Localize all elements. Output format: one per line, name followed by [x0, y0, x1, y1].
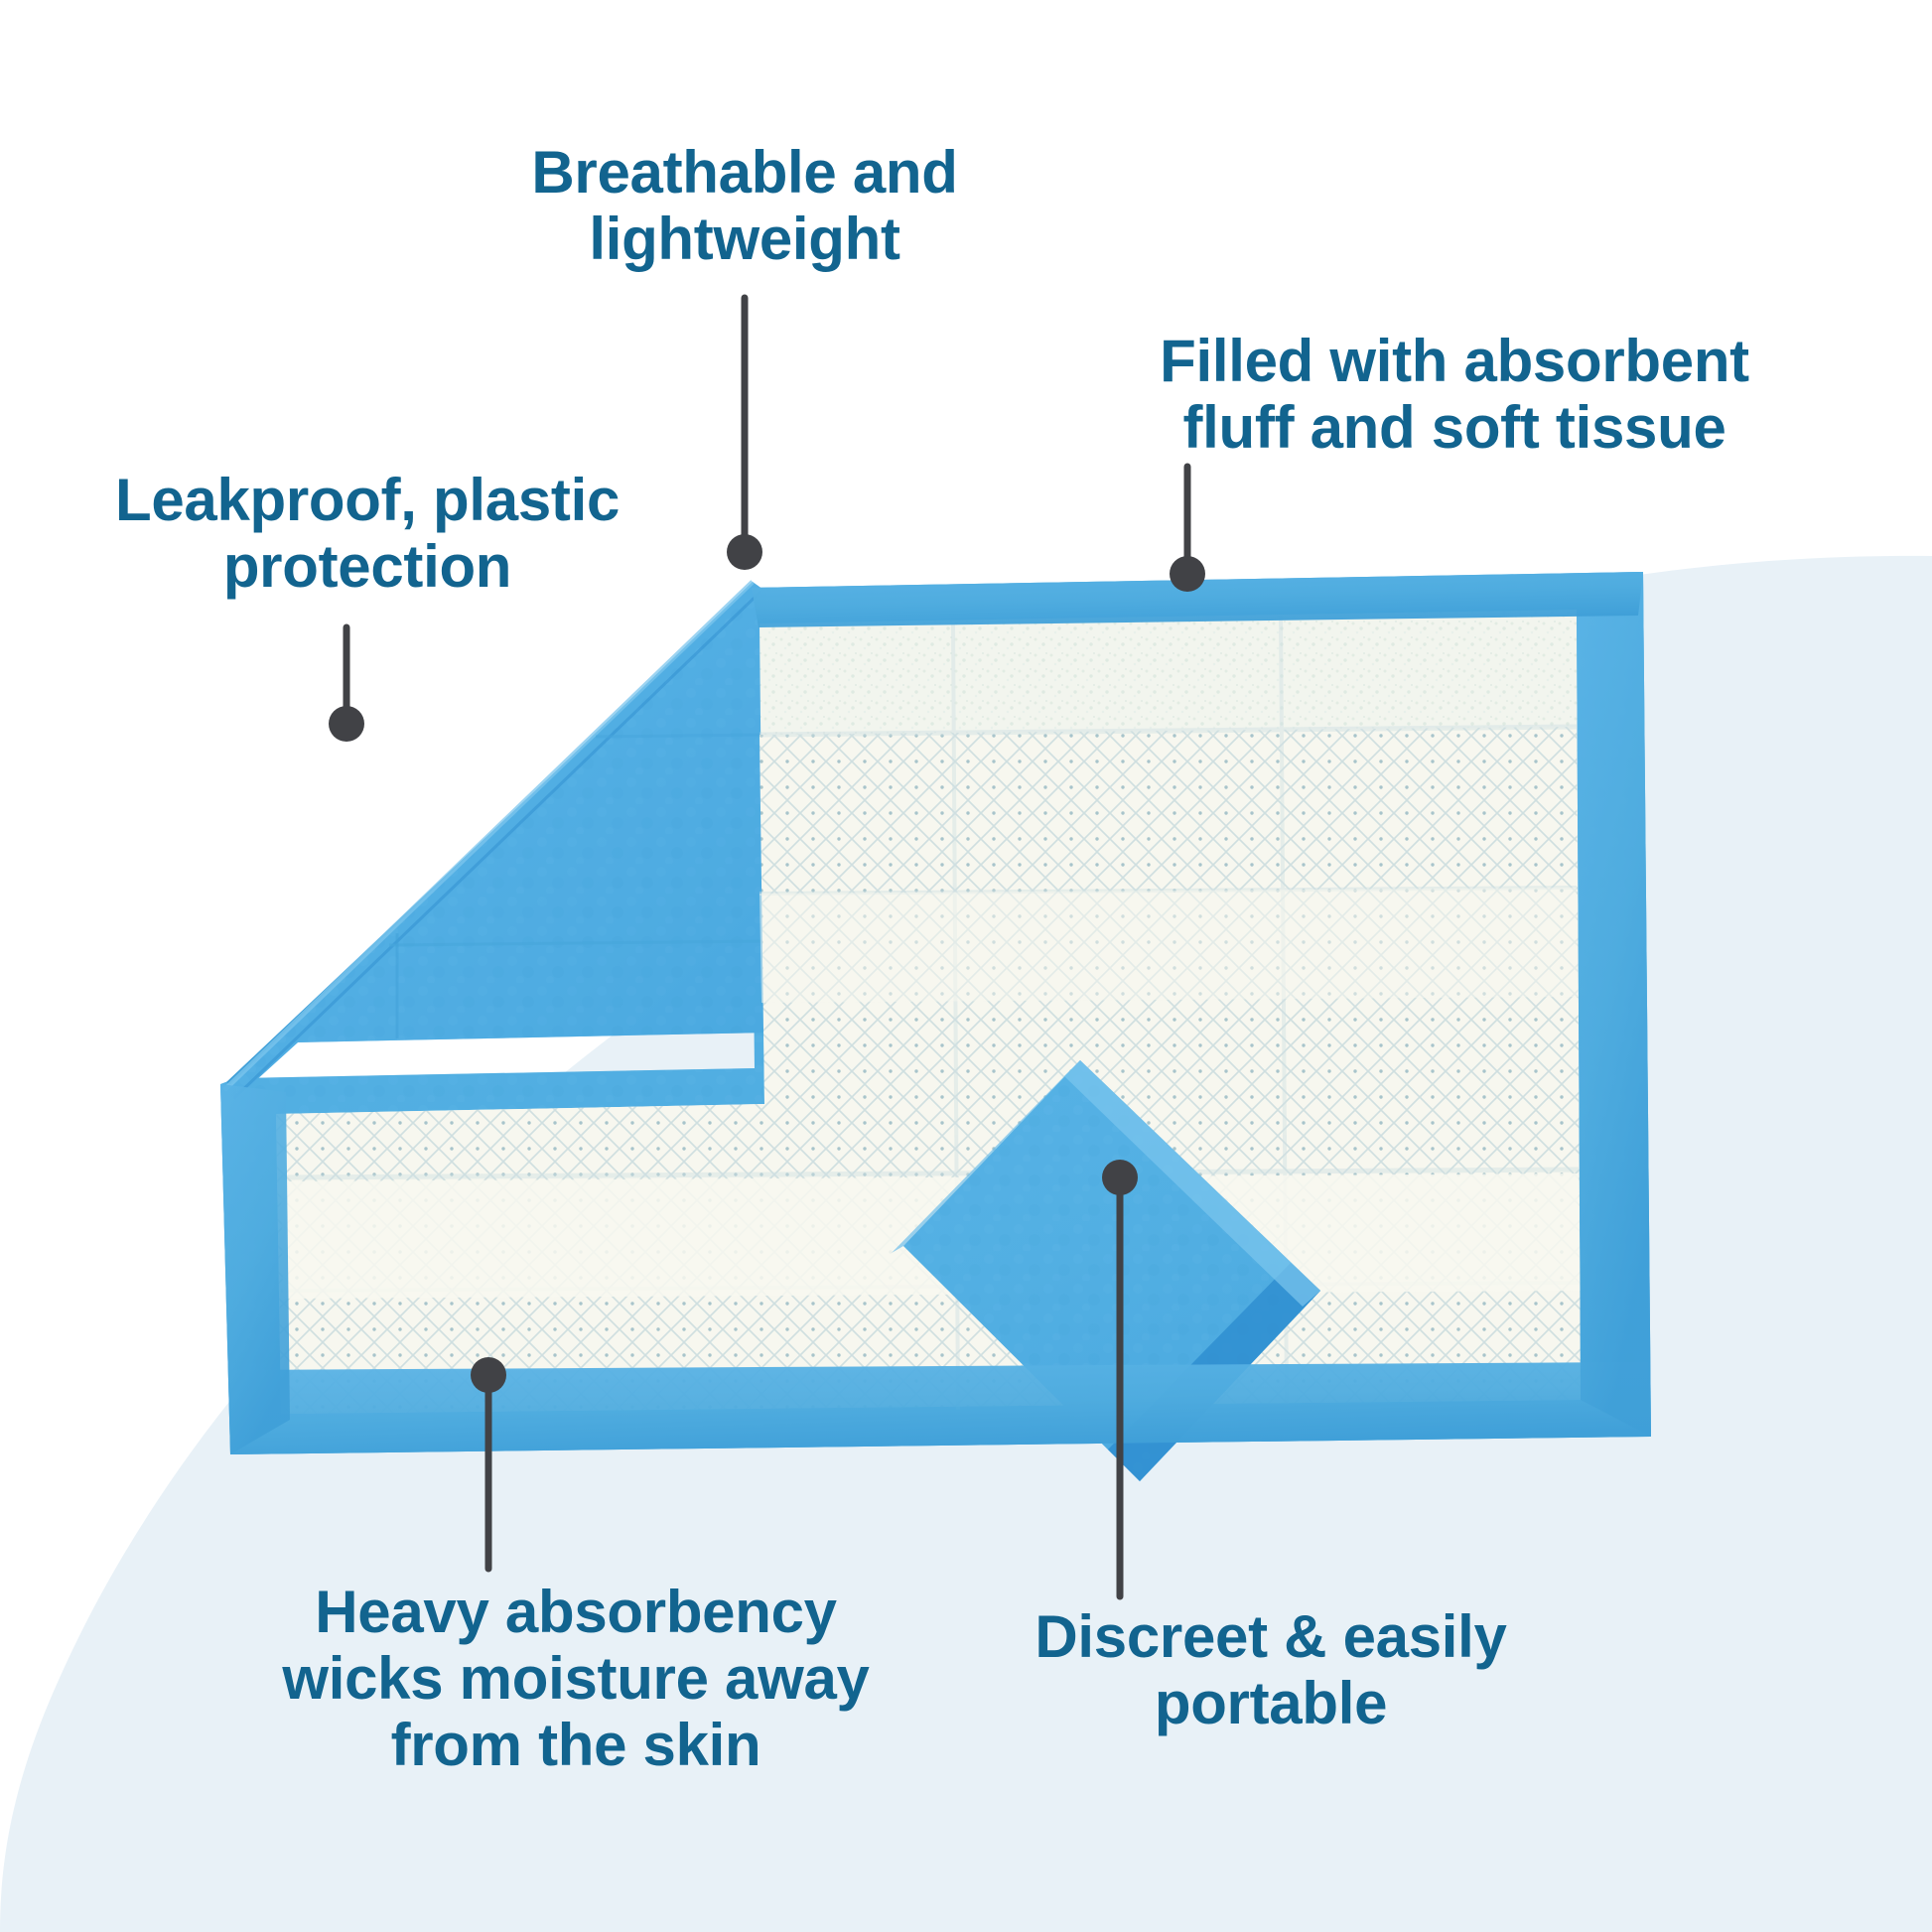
callout-label-leakproof: Leakproof, plastic protection — [50, 467, 685, 600]
callout-label-breathable: Breathable and lightweight — [467, 139, 1023, 272]
callout-label-heavy-absorbency: Heavy absorbency wicks moisture away fro… — [253, 1579, 898, 1779]
connector-dot-breathable — [727, 534, 762, 570]
callout-label-discreet: Discreet & easily portable — [993, 1603, 1549, 1736]
connector-dot-filled — [1170, 556, 1205, 592]
callout-label-filled: Filled with absorbent fluff and soft tis… — [1117, 328, 1792, 461]
connector-dot-discreet — [1102, 1160, 1138, 1195]
connector-dot-heavy — [471, 1357, 506, 1393]
connector-dot-leakproof — [329, 706, 364, 742]
infographic-canvas: Breathable and lightweight Filled with a… — [0, 0, 1932, 1932]
